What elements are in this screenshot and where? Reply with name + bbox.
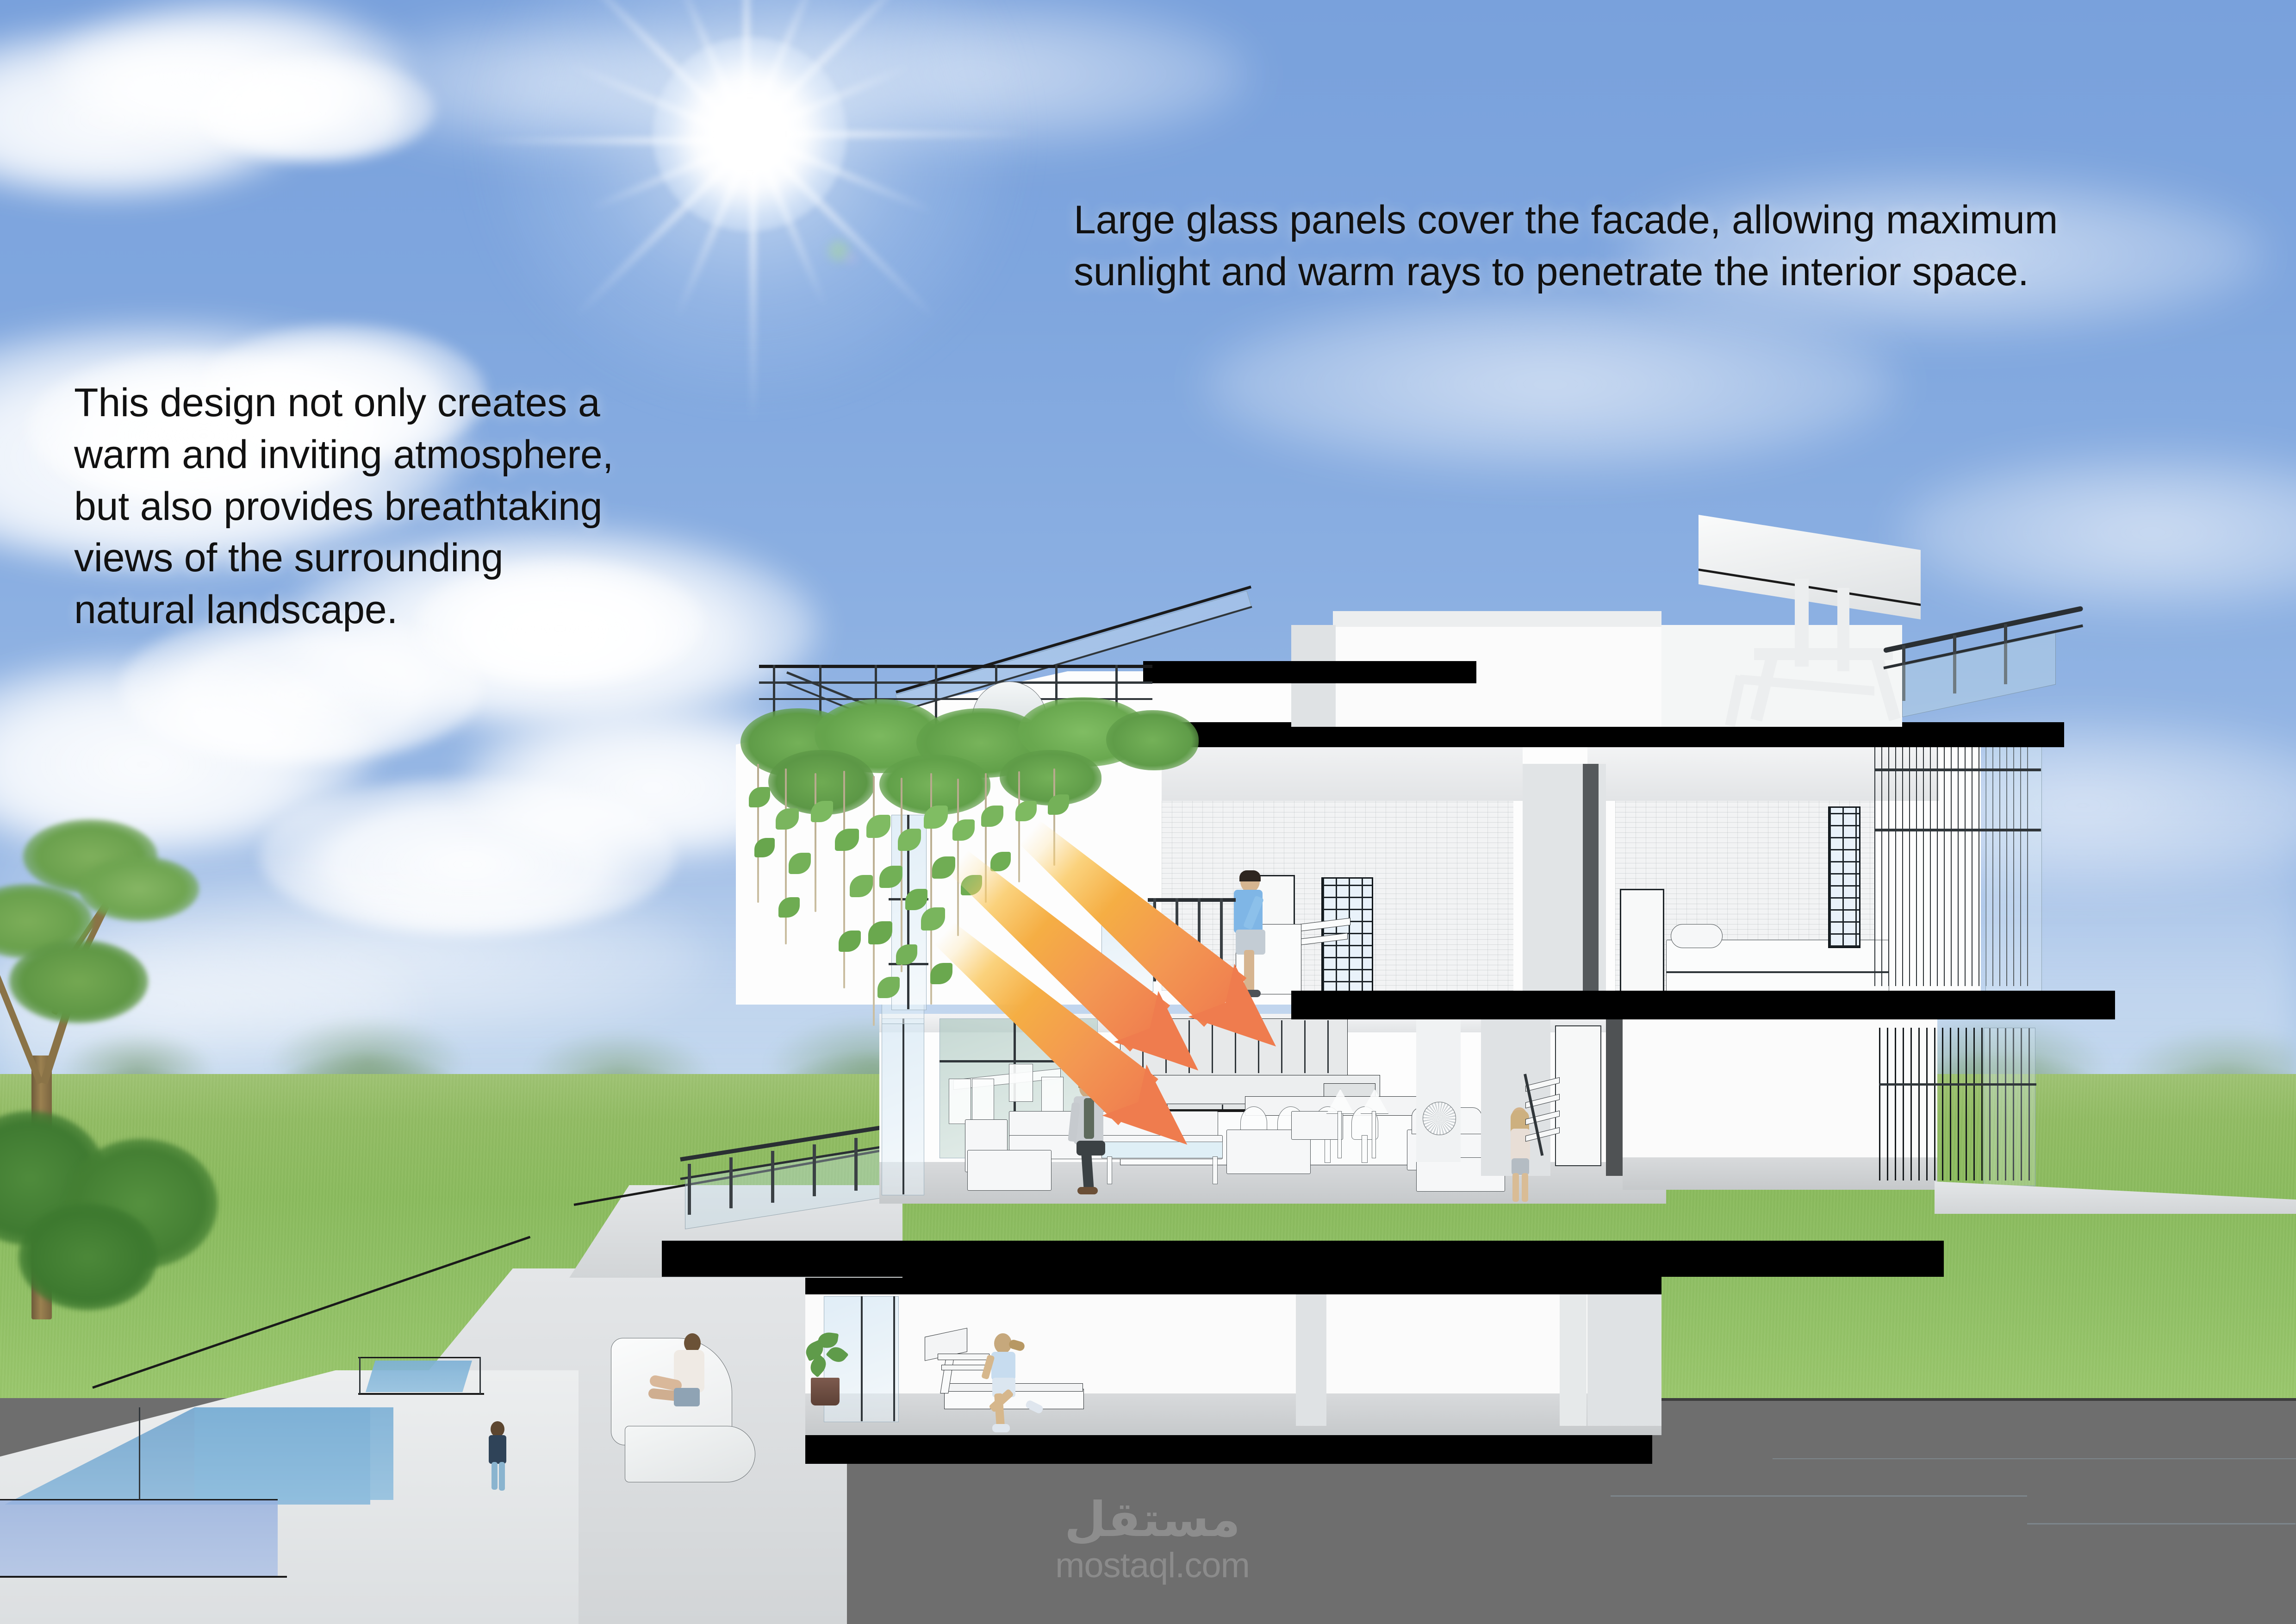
vine-clump bbox=[1106, 710, 1199, 770]
balcony-rail-post bbox=[854, 1138, 858, 1191]
upper-floor-reveal bbox=[1583, 764, 1599, 995]
louver-horizontal-rail bbox=[1874, 829, 2041, 831]
vine-leaf bbox=[866, 815, 890, 838]
vine-leaf bbox=[868, 921, 892, 944]
canopy-strut bbox=[1870, 651, 1901, 721]
vine-leaf bbox=[905, 889, 927, 910]
balcony-rail-post bbox=[688, 1164, 691, 1215]
vine-leaf bbox=[749, 787, 770, 807]
chaise bbox=[1291, 1111, 1343, 1140]
dining-chair bbox=[1009, 1064, 1033, 1102]
running-woman-shoe bbox=[992, 1424, 1010, 1432]
pergola-top-beam bbox=[759, 665, 1152, 668]
standing-woman-shorts bbox=[1512, 1158, 1529, 1175]
cabinet-divider bbox=[1327, 1020, 1329, 1073]
vine-strand bbox=[957, 779, 959, 936]
vine-leaf bbox=[778, 897, 800, 918]
seated-man-leg bbox=[1081, 1151, 1094, 1190]
canopy-foot bbox=[1725, 675, 1745, 727]
gym-mullion bbox=[861, 1296, 863, 1421]
swimming-pool bbox=[0, 1407, 518, 1624]
standing-woman-leg bbox=[1512, 1173, 1519, 1202]
jacuzzi-rim bbox=[479, 1357, 481, 1394]
swimmer-leg bbox=[499, 1462, 505, 1491]
upper-floor-door bbox=[1620, 889, 1664, 998]
ground-scribe-line bbox=[2027, 1523, 2296, 1524]
running-woman-shirt bbox=[991, 1352, 1015, 1380]
standing-woman-top bbox=[1511, 1129, 1530, 1161]
floor-lamp-post bbox=[1372, 1111, 1376, 1158]
balcony-rail-post bbox=[771, 1151, 774, 1203]
running-woman-ponytail bbox=[1008, 1339, 1026, 1352]
running-woman-shoe bbox=[1025, 1399, 1044, 1415]
swimmer-leg bbox=[492, 1462, 498, 1490]
vine-clump bbox=[1000, 750, 1101, 806]
swimmer-head bbox=[491, 1421, 504, 1437]
lounging-woman-figure bbox=[648, 1333, 717, 1421]
basement-slab-band bbox=[805, 1435, 1652, 1464]
lounge-chair-base bbox=[625, 1426, 755, 1482]
vine-leaf bbox=[776, 808, 799, 830]
seated-man-shoe bbox=[1077, 1187, 1098, 1194]
floor-lamp-post bbox=[1338, 1111, 1342, 1158]
pool-water-surface bbox=[194, 1407, 393, 1500]
louver-rail bbox=[1879, 1083, 2036, 1086]
dining-chair bbox=[972, 1079, 994, 1124]
corridor-door bbox=[1555, 1025, 1601, 1166]
standing-woman-leg bbox=[1522, 1173, 1528, 1202]
vine-leaf bbox=[877, 977, 900, 998]
upper-small-window bbox=[1828, 806, 1860, 948]
jacuzzi-rim bbox=[358, 1393, 484, 1395]
swimmer-figure bbox=[481, 1421, 514, 1495]
treadmill-handrail bbox=[938, 1354, 989, 1360]
jacuzzi bbox=[352, 1345, 500, 1405]
dining-chair bbox=[949, 1079, 971, 1124]
bar-stool-post bbox=[1362, 1135, 1368, 1163]
louver-horizontal-rail bbox=[1874, 768, 2041, 771]
cabinet-divider bbox=[1304, 1020, 1306, 1073]
louver-glazing-upper bbox=[1985, 745, 2042, 992]
ground-scribe-line bbox=[1773, 1458, 2296, 1459]
treadmill-handrail bbox=[941, 1365, 987, 1370]
ottoman bbox=[967, 1150, 1052, 1191]
coffee-table-leg bbox=[1213, 1156, 1218, 1184]
gym-partition-wall bbox=[1296, 1292, 1326, 1426]
vine-leaf bbox=[835, 829, 859, 851]
architectural-render-canvas: Large glass panels cover the facade, all… bbox=[0, 0, 2296, 1624]
vine-strand bbox=[815, 773, 816, 912]
gym-partition-wall bbox=[1560, 1292, 1587, 1426]
lounging-woman-shorts bbox=[674, 1388, 700, 1406]
plant-pot bbox=[811, 1378, 840, 1405]
lens-flare-dot bbox=[845, 252, 857, 264]
pool-water-front bbox=[0, 1500, 278, 1578]
upper-floor-slab-band bbox=[1291, 991, 2115, 1019]
vine-leaf bbox=[850, 875, 873, 897]
basement-ceiling-band bbox=[805, 1274, 1661, 1294]
seated-man-shirt bbox=[1084, 1098, 1094, 1139]
vine-strand bbox=[785, 768, 787, 944]
vine-leaf bbox=[879, 866, 902, 888]
corridor-reveal bbox=[1606, 1018, 1623, 1176]
pool-edge-line bbox=[0, 1576, 287, 1578]
jacuzzi-rim bbox=[358, 1357, 480, 1358]
balcony-rail-post bbox=[729, 1157, 733, 1208]
vine-strand bbox=[843, 771, 845, 988]
vine-leaf bbox=[952, 819, 975, 841]
running-woman-figure bbox=[986, 1333, 1051, 1417]
vine-leaf bbox=[839, 931, 861, 952]
seated-boy-hair bbox=[1239, 870, 1261, 881]
balcony-rail-post bbox=[813, 1144, 816, 1196]
ground-scribe-line bbox=[1611, 1495, 2027, 1497]
bed-edge bbox=[1666, 971, 1888, 973]
bed-pillow bbox=[1671, 924, 1723, 948]
jacuzzi-water bbox=[366, 1361, 472, 1392]
roof-parapet-top bbox=[1333, 611, 1661, 627]
facade-annotation-text: Large glass panels cover the facade, all… bbox=[1074, 194, 2058, 298]
vine-strand bbox=[873, 776, 875, 1026]
main-floor-slab-band bbox=[662, 1241, 1944, 1277]
pool-edge-line bbox=[139, 1407, 140, 1500]
roof-slab-band bbox=[1143, 661, 1476, 683]
gym-mullion bbox=[893, 1296, 895, 1421]
vine-leaf bbox=[896, 944, 917, 965]
vine-leaf bbox=[789, 853, 811, 874]
jacuzzi-rim bbox=[359, 1357, 361, 1394]
rosette-ornament bbox=[1423, 1102, 1456, 1135]
louver-glazing-main bbox=[1984, 1028, 2035, 1186]
sun-core bbox=[653, 37, 847, 231]
decorative-column bbox=[1416, 1018, 1461, 1162]
vine-strand bbox=[757, 764, 759, 903]
canopy-crossbeam bbox=[1754, 648, 1893, 660]
swimmer-torso bbox=[489, 1435, 506, 1464]
gym-floor bbox=[805, 1393, 1661, 1435]
design-annotation-text: This design not only creates a warm and … bbox=[74, 377, 613, 636]
vine-leaf bbox=[921, 907, 945, 931]
gym-side-wall bbox=[1587, 1292, 1661, 1426]
